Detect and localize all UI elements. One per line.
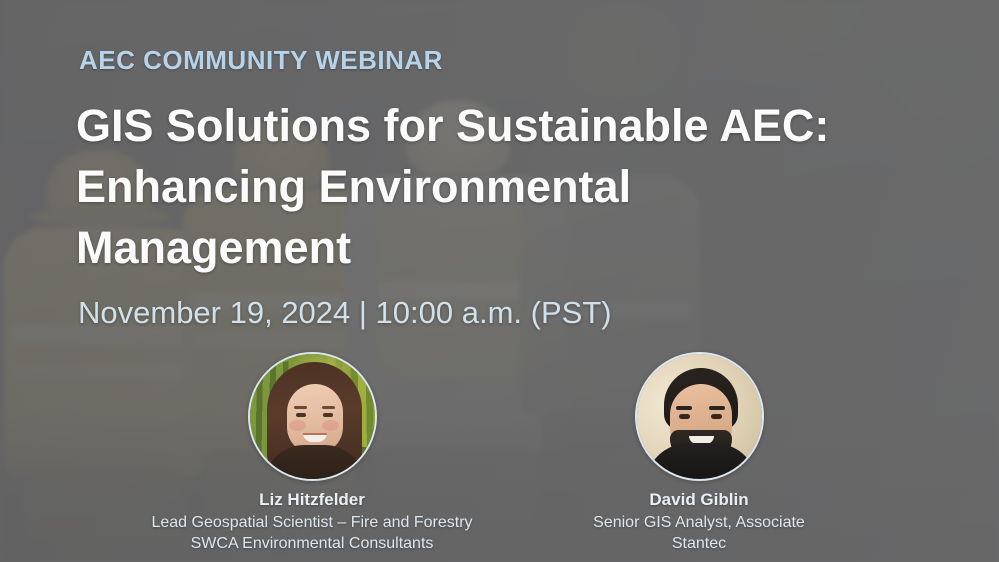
speaker-card-liz-hitzfelder: Liz Hitzfelder Lead Geospatial Scientist… xyxy=(62,352,562,553)
avatar-liz-hitzfelder xyxy=(248,352,377,481)
speaker-name: David Giblin xyxy=(535,490,863,510)
avatar-david-giblin xyxy=(635,352,764,481)
speaker-organization: Stantec xyxy=(535,535,863,553)
webinar-promo-slide: AEC COMMUNITY WEBINAR GIS Solutions for … xyxy=(0,0,999,562)
speaker-name: Liz Hitzfelder xyxy=(62,490,562,510)
speaker-card-david-giblin: David Giblin Senior GIS Analyst, Associa… xyxy=(535,352,863,553)
webinar-datetime: November 19, 2024 | 10:00 a.m. (PST) xyxy=(78,295,612,331)
page-title-line-1: GIS Solutions for Sustainable AEC: xyxy=(76,95,956,156)
page-title-line-3: Management xyxy=(76,217,956,278)
page-title-line-2: Enhancing Environmental xyxy=(76,156,956,217)
speaker-role: Lead Geospatial Scientist – Fire and For… xyxy=(62,514,562,532)
speaker-role: Senior GIS Analyst, Associate xyxy=(535,514,863,532)
speaker-organization: SWCA Environmental Consultants xyxy=(62,535,562,553)
slide-content: AEC COMMUNITY WEBINAR GIS Solutions for … xyxy=(0,0,999,562)
page-title: GIS Solutions for Sustainable AEC: Enhan… xyxy=(76,95,956,278)
webinar-eyebrow-label: AEC COMMUNITY WEBINAR xyxy=(79,45,443,76)
